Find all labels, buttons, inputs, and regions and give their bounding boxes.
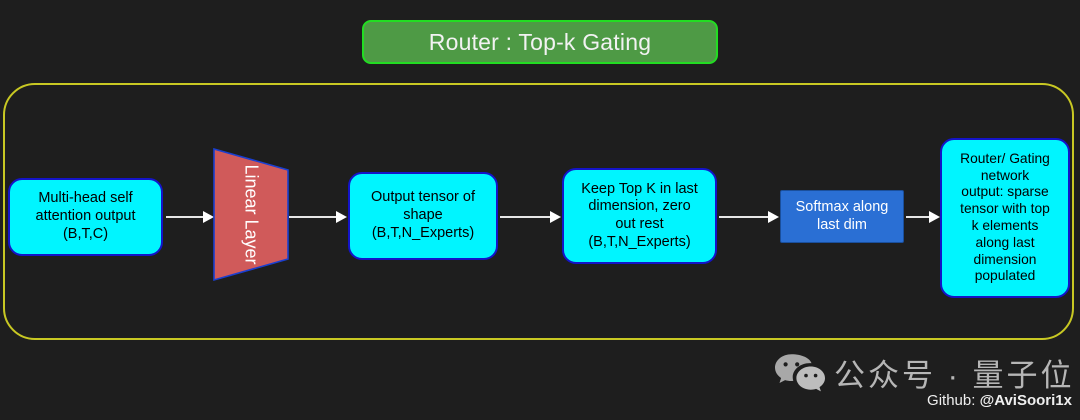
arrow-head [768,211,779,223]
node-label: Keep Top K in lastdimension, zeroout res… [564,181,715,252]
arrow-attention-to-linear [166,211,214,223]
node-label: Softmax alonglast dim [781,199,903,234]
node-router-gating-output: Router/ Gatingnetworkoutput: sparsetenso… [940,138,1070,298]
arrow-head [336,211,347,223]
arrow-shaft [719,216,769,218]
diagram-canvas: Router : Top-k Gating Multi-head selfatt… [0,0,1080,420]
linear-layer-text-wrap: Linear Layer [214,149,288,280]
arrow-head [929,211,940,223]
arrow-shaft [906,216,930,218]
page-title: Router : Top-k Gating [429,29,651,56]
github-handle: @AviSoori1x [980,392,1072,409]
arrow-shaft [166,216,204,218]
arrow-softmax-to-router-output [906,211,940,223]
arrow-head [203,211,214,223]
node-label: Router/ Gatingnetworkoutput: sparsetenso… [942,151,1068,286]
diagram-title-banner: Router : Top-k Gating [362,20,718,64]
node-linear-layer: Linear Layer [214,149,288,280]
watermark-text: 公众号 · 量子位 [834,350,1075,395]
arrow-top-k-to-softmax [719,211,779,223]
github-credit: Github: @AviSoori1x [0,392,1072,409]
node-multi-head-attention-output: Multi-head selfattention output(B,T,C) [8,178,163,256]
node-label: Output tensor ofshape(B,T,N_Experts) [350,189,496,242]
arrow-linear-to-output-tensor [289,211,347,223]
github-label: Github: [927,392,980,409]
watermark: 公众号 · 量子位 [772,350,1075,395]
node-label: Linear Layer [241,164,262,264]
node-output-tensor: Output tensor ofshape(B,T,N_Experts) [348,172,498,260]
arrow-shaft [500,216,551,218]
arrow-head [550,211,561,223]
node-label: Multi-head selfattention output(B,T,C) [10,190,161,243]
node-softmax: Softmax alonglast dim [780,190,904,243]
arrow-shaft [289,216,337,218]
arrow-output-tensor-to-top-k [500,211,561,223]
node-keep-top-k: Keep Top K in lastdimension, zeroout res… [562,168,717,264]
wechat-icon [772,351,828,395]
